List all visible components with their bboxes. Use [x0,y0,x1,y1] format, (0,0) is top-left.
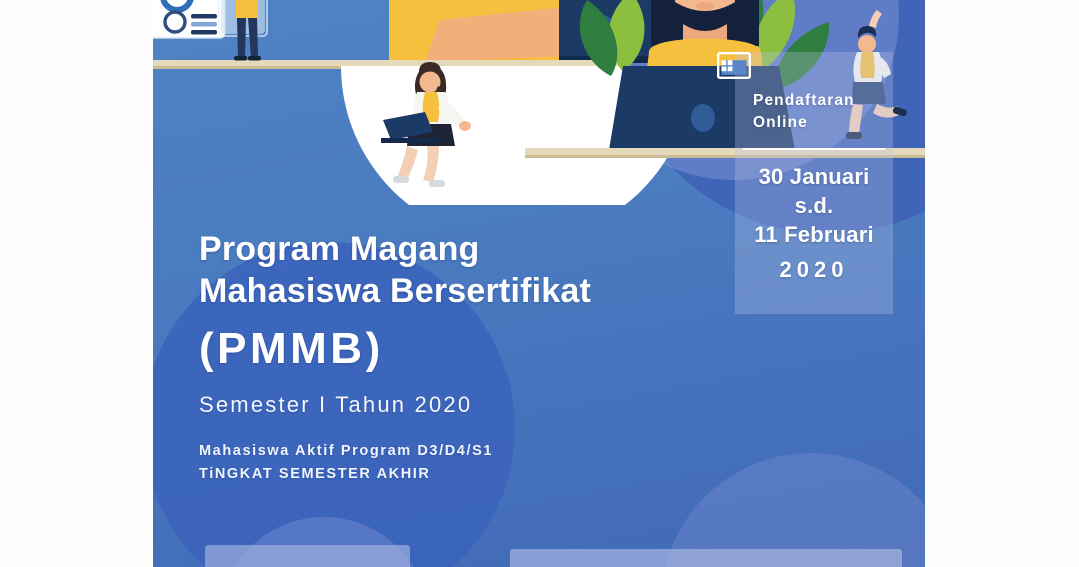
headline-block: Program Magang Mahasiswa Bersertifikat (… [199,228,729,487]
poster-canvas: Program Magang Mahasiswa Bersertifikat (… [153,0,925,567]
headline-line-1: Program Magang [199,228,729,270]
registration-year: 2020 [739,257,889,283]
program-acronym: (PMMB) [199,322,729,376]
letterbox-right [925,0,1079,567]
bottom-card-right [510,549,902,567]
letterbox-left [0,0,153,567]
dashboard-chart-card-icon [153,0,225,38]
registration-date-end: 11 Februari [739,220,889,249]
registration-date-start: 30 Januari [739,162,889,191]
poster-stage: Program Magang Mahasiswa Bersertifikat (… [0,0,1079,567]
eligibility-line-2: TiNGKAT SEMESTER AKHIR [199,463,729,486]
bottom-card-left [205,545,410,567]
illustration-shelf-upper [153,60,619,67]
registration-date-connector: s.d. [739,191,889,220]
registration-label: Pendaftaran Online [739,90,889,134]
registration-date-panel: Pendaftaran Online 30 Januari s.d. 11 Fe… [735,52,893,314]
registration-label-line-1: Pendaftaran [753,90,889,112]
eligibility-line-1: Mahasiswa Aktif Program D3/D4/S1 [199,440,729,463]
window-grid-icon [717,52,751,79]
semester-line: Semester I Tahun 2020 [199,392,729,418]
eligibility-block: Mahasiswa Aktif Program D3/D4/S1 TiNGKAT… [199,440,729,487]
registration-label-line-2: Online [753,112,889,134]
panel-divider [743,148,885,150]
headline-line-2: Mahasiswa Bersertifikat [199,270,729,312]
